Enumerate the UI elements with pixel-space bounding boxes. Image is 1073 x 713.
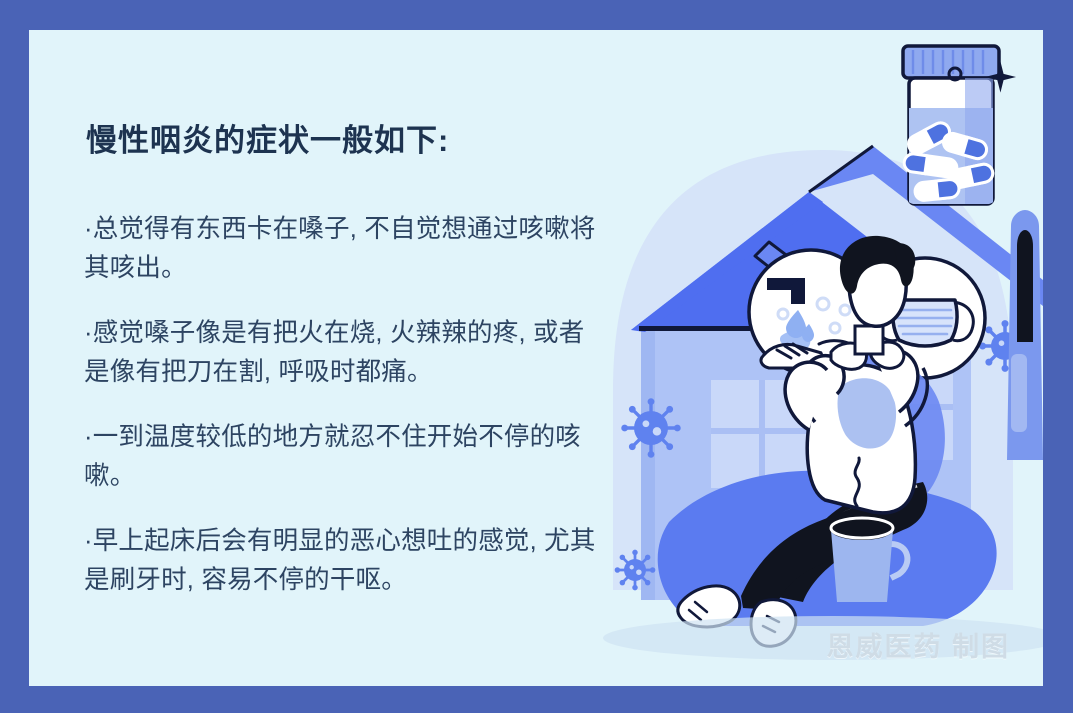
list-item: ·总觉得有东西卡在嗓子, 不自觉想通过咳嗽将其咳出。 <box>84 210 604 288</box>
bottle-cap <box>903 46 999 78</box>
list-item: ·早上起床后会有明显的恶心想吐的感觉, 尤其是刷牙时, 容易不停的干呕。 <box>84 522 604 600</box>
page-title: 慢性咽炎的症状一般如下: <box>86 115 449 160</box>
poster-frame: 慢性咽炎的症状一般如下: ·总觉得有东西卡在嗓子, 不自觉想通过咳嗽将其咳出。 … <box>0 0 1073 713</box>
poster-panel: 慢性咽炎的症状一般如下: ·总觉得有东西卡在嗓子, 不自觉想通过咳嗽将其咳出。 … <box>29 30 1043 686</box>
watermark: 恩威医药 制图 <box>826 625 1010 664</box>
neck <box>855 326 883 354</box>
virus-particle <box>615 550 656 591</box>
thermometer-mercury <box>1017 230 1033 342</box>
illustration <box>573 30 1043 686</box>
thermometer <box>1007 210 1043 460</box>
symptom-list: ·总觉得有东西卡在嗓子, 不自觉想通过咳嗽将其咳出。 ·感觉嗓子像是有把火在烧,… <box>84 210 604 600</box>
list-item: ·一到温度较低的地方就忍不住开始不停的咳嗽。 <box>84 418 604 496</box>
cup-body <box>831 530 893 602</box>
thermometer-scale <box>1011 354 1027 432</box>
virus-particle <box>621 398 681 458</box>
list-item: ·感觉嗓子像是有把火在烧, 火辣辣的疼, 或者是像有把刀在割, 呼吸时都痛。 <box>84 314 604 392</box>
